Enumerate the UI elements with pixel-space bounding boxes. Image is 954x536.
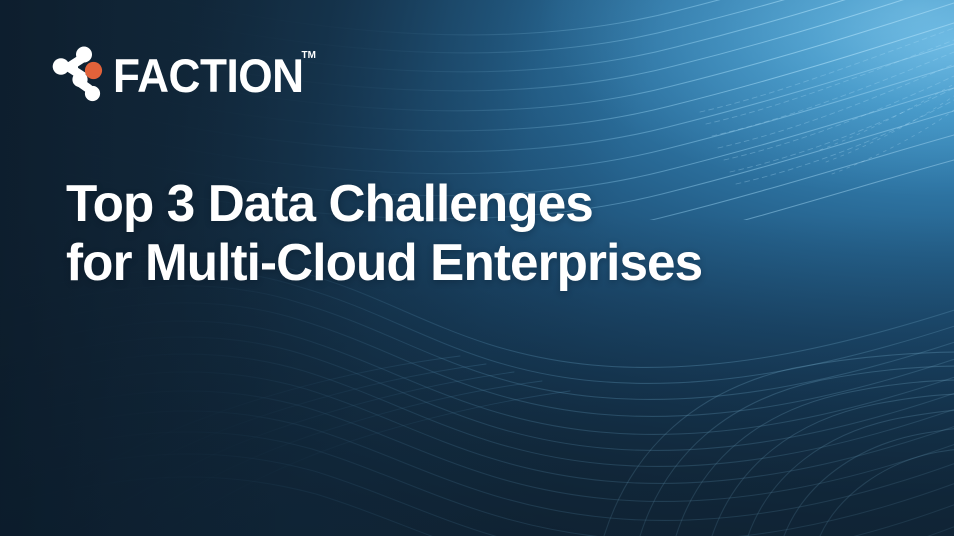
trademark-symbol: TM [302,51,316,61]
faction-logo[interactable]: FACTION TM [50,42,316,106]
page-title: Top 3 Data Challenges for Multi-Cloud En… [66,175,712,293]
page-title-line-2: for Multi-Cloud Enterprises [66,234,702,293]
page-title-line-1: Top 3 Data Challenges [66,175,702,234]
faction-node-chain-icon [50,42,106,106]
accent-dot [85,62,102,79]
faction-wordmark: FACTION TM [113,50,304,99]
faction-wordmark-text: FACTION [113,49,304,102]
title-slide: FACTION TM Top 3 Data Challenges for Mul… [0,0,954,536]
